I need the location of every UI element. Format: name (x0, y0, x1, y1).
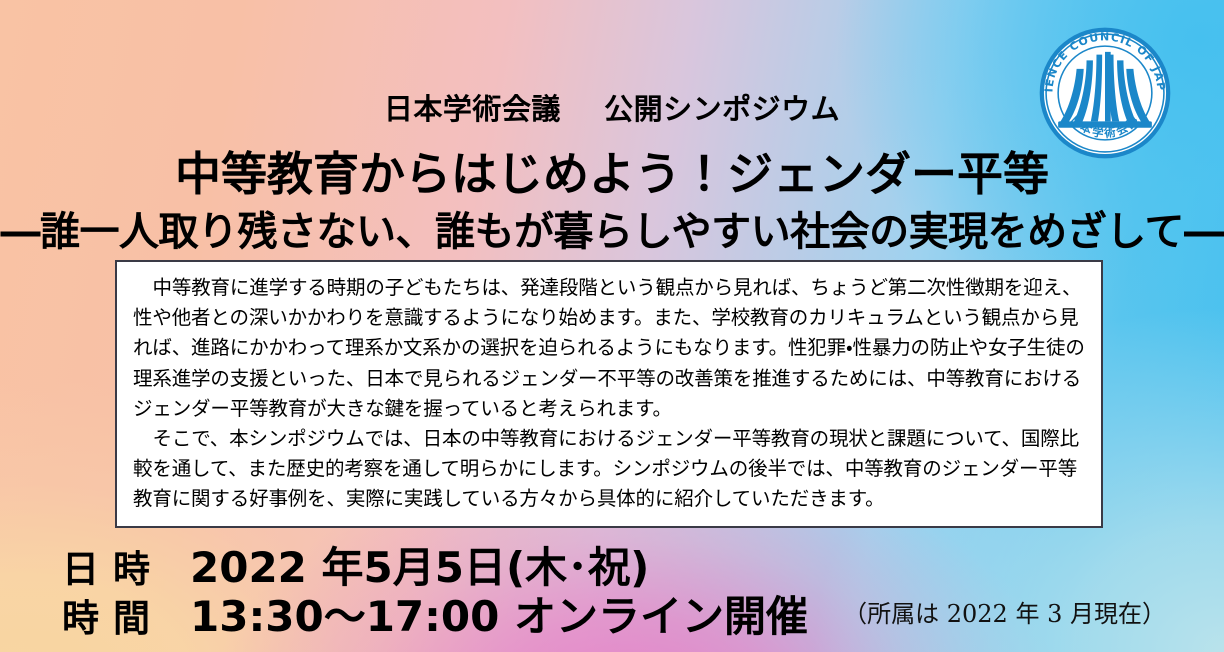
event-time-label: 時間 (62, 588, 190, 642)
organization-kicker: 日本学術会議 公開シンポジウム (0, 86, 1224, 128)
description-paragraph-2: そこで、本シンポジウムでは、日本の中等教育におけるジェンダー平等教育の現状と課題… (133, 424, 1085, 515)
page-subtitle: ―誰一人取り残さない、誰もが暮らしやすい社会の実現をめざして― (0, 199, 1224, 257)
page-title: 中等教育からはじめよう！ジェンダー平等 (0, 138, 1224, 204)
affiliation-note: （所属は 2022 年 3 月現在） (843, 594, 1166, 629)
description-paragraph-1: 中等教育に進学する時期の子どもたちは、発達段階という観点から見れば、ちょうど第二… (133, 273, 1085, 424)
poster-canvas: SCIENCE COUNCIL OF JAPAN 日本学術会議 日本学術会議 公… (0, 0, 1224, 652)
kicker-organization: 日本学術会議 (384, 92, 561, 126)
description-box: 中等教育に進学する時期の子どもたちは、発達段階という観点から見れば、ちょうど第二… (115, 260, 1103, 528)
kicker-event-type: 公開シンポジウム (604, 92, 840, 126)
event-time-value: 13:30〜17:00 オンライン開催 (190, 583, 808, 644)
event-time-row: 時間 13:30〜17:00 オンライン開催 (62, 583, 808, 644)
